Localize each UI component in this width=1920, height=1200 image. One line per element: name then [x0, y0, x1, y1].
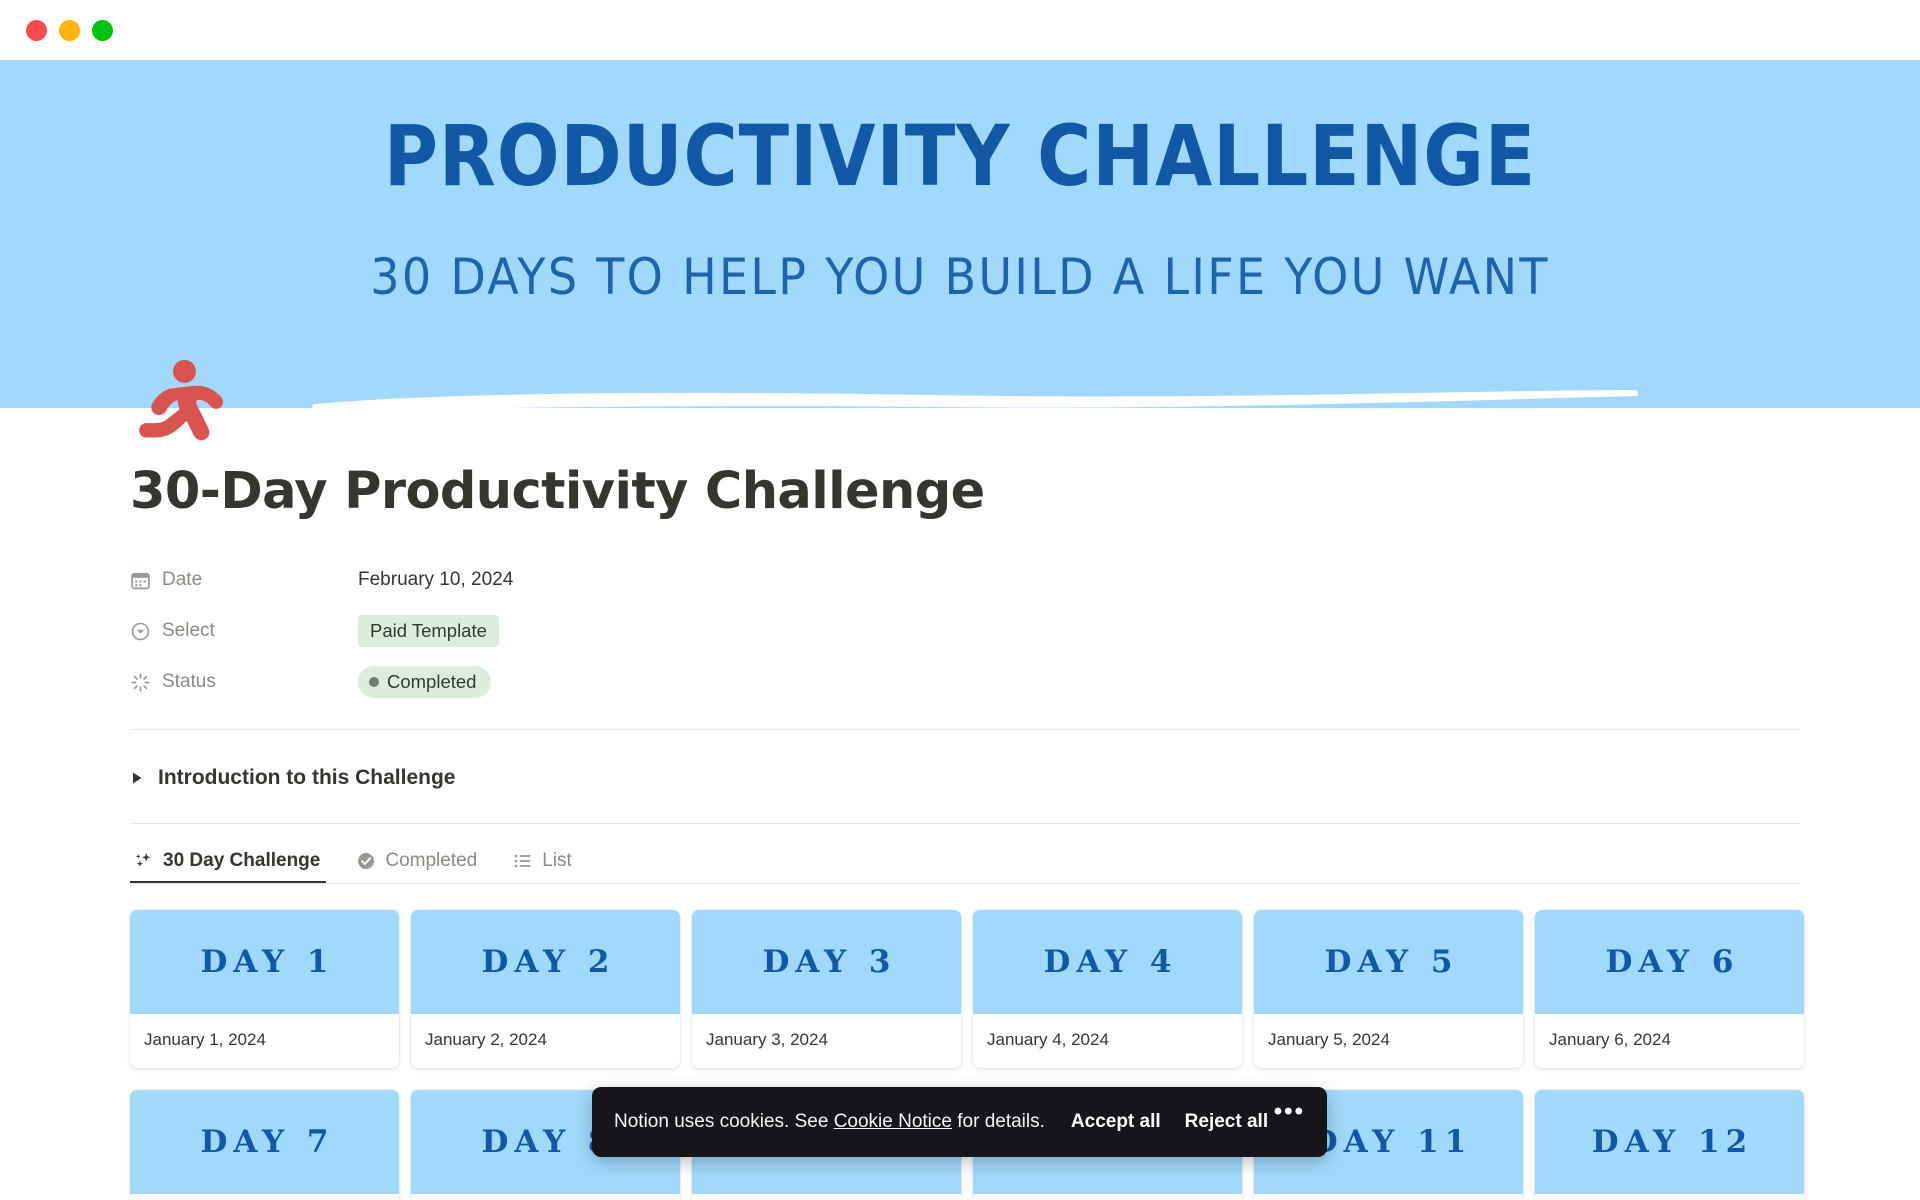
sparkles-icon	[134, 851, 154, 871]
triangle-right-icon[interactable]	[130, 771, 144, 785]
day-card-date: January 7, 2024	[130, 1194, 399, 1200]
properties-panel: Date February 10, 2024 Select Paid Templ…	[130, 563, 1800, 699]
tab-label-completed: Completed	[385, 850, 477, 872]
toggle-block-introduction[interactable]: Introduction to this Challenge	[130, 758, 1800, 798]
day-card-cover: DAY 5	[1254, 910, 1523, 1014]
day-card-cover: DAY 7	[130, 1090, 399, 1194]
cookie-text-before: Notion uses cookies. See	[614, 1111, 834, 1132]
day-card-date: January 6, 2024	[1535, 1014, 1804, 1068]
status-dot-icon	[369, 677, 379, 687]
calendar-icon	[130, 570, 151, 591]
status-badge-label: Completed	[387, 671, 476, 693]
day-card[interactable]: DAY 1 January 1, 2024	[130, 910, 399, 1068]
toggle-block-label: Introduction to this Challenge	[158, 766, 456, 790]
banner-brush-underline-icon	[310, 388, 1640, 408]
window-minimize-button[interactable]	[59, 20, 80, 41]
day-card[interactable]: DAY 7 January 7, 2024	[130, 1090, 399, 1200]
day-card[interactable]: DAY 6 January 6, 2024	[1535, 910, 1804, 1068]
day-card-date: January 4, 2024	[973, 1014, 1242, 1068]
day-card-date: January 11, 2024	[1254, 1194, 1523, 1200]
day-card-cover: DAY 4	[973, 910, 1242, 1014]
cookie-text-after: for details.	[952, 1111, 1045, 1132]
day-card-date: January 3, 2024	[692, 1014, 961, 1068]
day-card-date: January 12, 2024	[1535, 1194, 1804, 1200]
day-card-cover: DAY 2	[411, 910, 680, 1014]
day-card[interactable]: DAY 5 January 5, 2024	[1254, 910, 1523, 1068]
property-label-date: Date	[130, 569, 358, 591]
property-label-select: Select	[130, 620, 358, 642]
app-window: PRODUCTIVITY CHALLENGE 30 DAYS TO HELP Y…	[0, 0, 1920, 1200]
day-card-date: January 10, 2024	[973, 1194, 1242, 1200]
day-card-cover-text: DAY 11	[1305, 1124, 1472, 1160]
day-card-cover-text: DAY 2	[476, 944, 616, 980]
property-label-status: Status	[130, 671, 358, 693]
window-maximize-button[interactable]	[92, 20, 113, 41]
day-card[interactable]: DAY 12 January 12, 2024	[1535, 1090, 1804, 1200]
running-person-icon[interactable]	[132, 352, 224, 444]
page-content: 30-Day Productivity Challenge	[0, 408, 1920, 1200]
day-card-cover-text: DAY 6	[1600, 944, 1740, 980]
tab-completed[interactable]: Completed	[352, 840, 483, 883]
accept-all-button[interactable]: Accept all	[1071, 1111, 1161, 1133]
select-pill-badge[interactable]: Paid Template	[358, 615, 499, 647]
day-card[interactable]: DAY 4 January 4, 2024	[973, 910, 1242, 1068]
property-value-status[interactable]: Completed	[358, 666, 491, 698]
day-card-cover-text: DAY 5	[1319, 944, 1459, 980]
select-chevron-icon	[130, 621, 151, 642]
tab-label-list: List	[542, 850, 572, 872]
tab-30-day-challenge[interactable]: 30 Day Challenge	[130, 840, 326, 883]
status-spinner-icon	[130, 672, 151, 693]
cookie-more-options-icon[interactable]: •••	[1274, 1107, 1305, 1137]
check-circle-icon	[356, 851, 376, 871]
toggle-divider	[130, 823, 1800, 824]
banner-title: PRODUCTIVITY CHALLENGE	[115, 108, 1805, 204]
day-card-cover: DAY 6	[1535, 910, 1804, 1014]
day-card-cover: DAY 12	[1535, 1090, 1804, 1194]
property-name-select: Select	[162, 620, 215, 642]
cookie-notice-link[interactable]: Cookie Notice	[834, 1111, 952, 1132]
database-view-tabs: 30 Day Challenge Completed	[130, 840, 1800, 884]
list-icon	[513, 851, 533, 871]
day-card-date: January 8, 2024	[411, 1194, 680, 1200]
property-name-date: Date	[162, 569, 202, 591]
day-card-cover-text: DAY 1	[195, 944, 335, 980]
window-close-button[interactable]	[26, 20, 47, 41]
property-value-select[interactable]: Paid Template	[358, 615, 499, 647]
day-card[interactable]: DAY 3 January 3, 2024	[692, 910, 961, 1068]
reject-all-button[interactable]: Reject all	[1185, 1111, 1268, 1133]
properties-divider	[130, 729, 1800, 730]
property-row-date[interactable]: Date February 10, 2024	[130, 563, 1800, 597]
day-card-cover-text: DAY 4	[1038, 944, 1178, 980]
cookie-banner-text: Notion uses cookies. See Cookie Notice f…	[614, 1111, 1045, 1133]
day-card-date: January 2, 2024	[411, 1014, 680, 1068]
property-row-status[interactable]: Status Completed	[130, 665, 1800, 699]
property-value-date[interactable]: February 10, 2024	[358, 569, 513, 591]
property-row-select[interactable]: Select Paid Template	[130, 614, 1800, 648]
tab-list[interactable]: List	[509, 840, 578, 883]
day-card-cover-text: DAY 3	[757, 944, 897, 980]
day-card-date: January 1, 2024	[130, 1014, 399, 1068]
day-card-cover: DAY 3	[692, 910, 961, 1014]
page-title: 30-Day Productivity Challenge	[130, 462, 1800, 521]
day-card-date: January 9, 2024	[692, 1194, 961, 1200]
tab-label-30-day-challenge: 30 Day Challenge	[163, 850, 320, 872]
day-card[interactable]: DAY 2 January 2, 2024	[411, 910, 680, 1068]
day-card-cover-text: DAY 12	[1586, 1124, 1753, 1160]
property-name-status: Status	[162, 671, 216, 693]
day-card-cover: DAY 1	[130, 910, 399, 1014]
day-card-date: January 5, 2024	[1254, 1014, 1523, 1068]
day-card-cover-text: DAY 7	[195, 1124, 335, 1160]
page-cover-banner: PRODUCTIVITY CHALLENGE 30 DAYS TO HELP Y…	[0, 60, 1920, 408]
banner-subtitle: 30 DAYS TO HELP YOU BUILD A LIFE YOU WAN…	[77, 248, 1843, 306]
status-badge[interactable]: Completed	[358, 666, 491, 698]
window-titlebar	[0, 0, 1920, 60]
cookie-consent-banner: Notion uses cookies. See Cookie Notice f…	[592, 1087, 1327, 1157]
